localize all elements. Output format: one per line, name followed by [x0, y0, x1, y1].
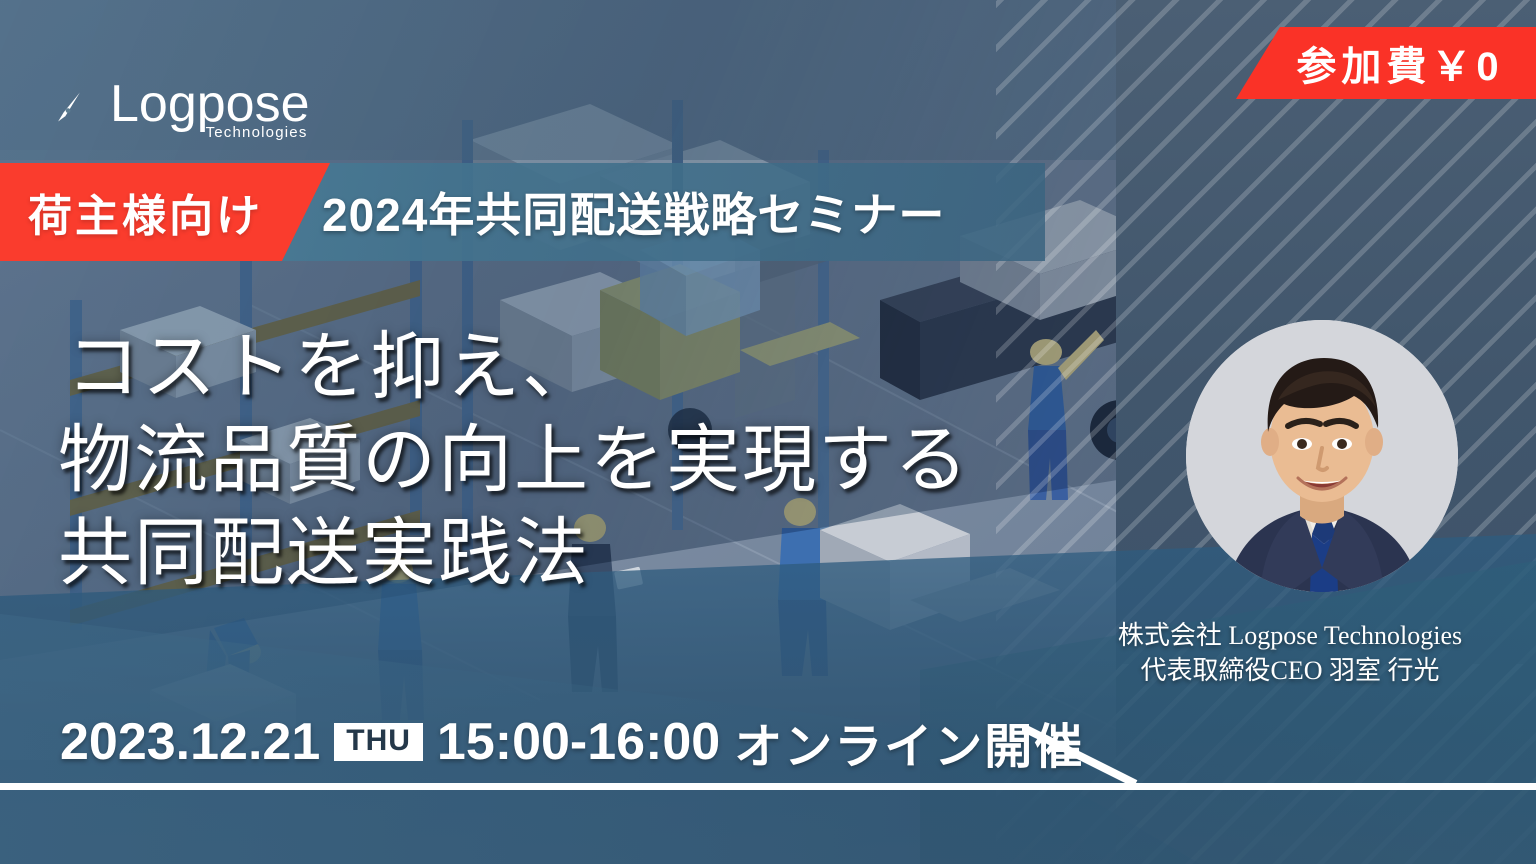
- brand-tagline: Technologies: [206, 124, 308, 141]
- seminar-title: 2024年共同配送戦略セミナー: [322, 163, 945, 261]
- event-details: 2023.12.21 THU 15:00-16:00 オンライン開催: [60, 707, 1084, 777]
- speaker-company: 株式会社 Logpose Technologies: [1080, 618, 1500, 653]
- compass-icon: [40, 78, 98, 136]
- speaker-portrait: [1186, 320, 1458, 592]
- seminar-banner: Logpose Technologies 参加費￥0 荷主様向け 2024年共同…: [0, 0, 1536, 864]
- arrow-flourish-icon: [1022, 726, 1142, 786]
- event-time: 15:00-16:00: [437, 712, 720, 772]
- fee-badge: 参加費￥0: [1236, 27, 1536, 99]
- event-date: 2023.12.21: [60, 712, 320, 772]
- bottom-rule: [0, 783, 1536, 790]
- event-day-of-week: THU: [334, 723, 423, 761]
- speaker-photo: [1186, 320, 1458, 592]
- headline-line-3: 共同配送実践法: [58, 508, 970, 601]
- brand-logo[interactable]: Logpose Technologies: [40, 78, 310, 136]
- speaker-info: 株式会社 Logpose Technologies 代表取締役CEO 羽室 行光: [1080, 618, 1500, 688]
- headline-line-1: コストを抑え、: [66, 322, 970, 415]
- audience-tag: 荷主様向け: [0, 163, 330, 261]
- audience-tag-label: 荷主様向け: [28, 180, 263, 244]
- fee-badge-label: 参加費￥0: [1296, 34, 1503, 92]
- speaker-role: 代表取締役CEO 羽室 行光: [1080, 653, 1500, 688]
- headline: コストを抑え、 物流品質の向上を実現する 共同配送実践法: [66, 322, 970, 602]
- headline-line-2: 物流品質の向上を実現する: [58, 415, 970, 508]
- brand-name: Logpose: [110, 78, 310, 130]
